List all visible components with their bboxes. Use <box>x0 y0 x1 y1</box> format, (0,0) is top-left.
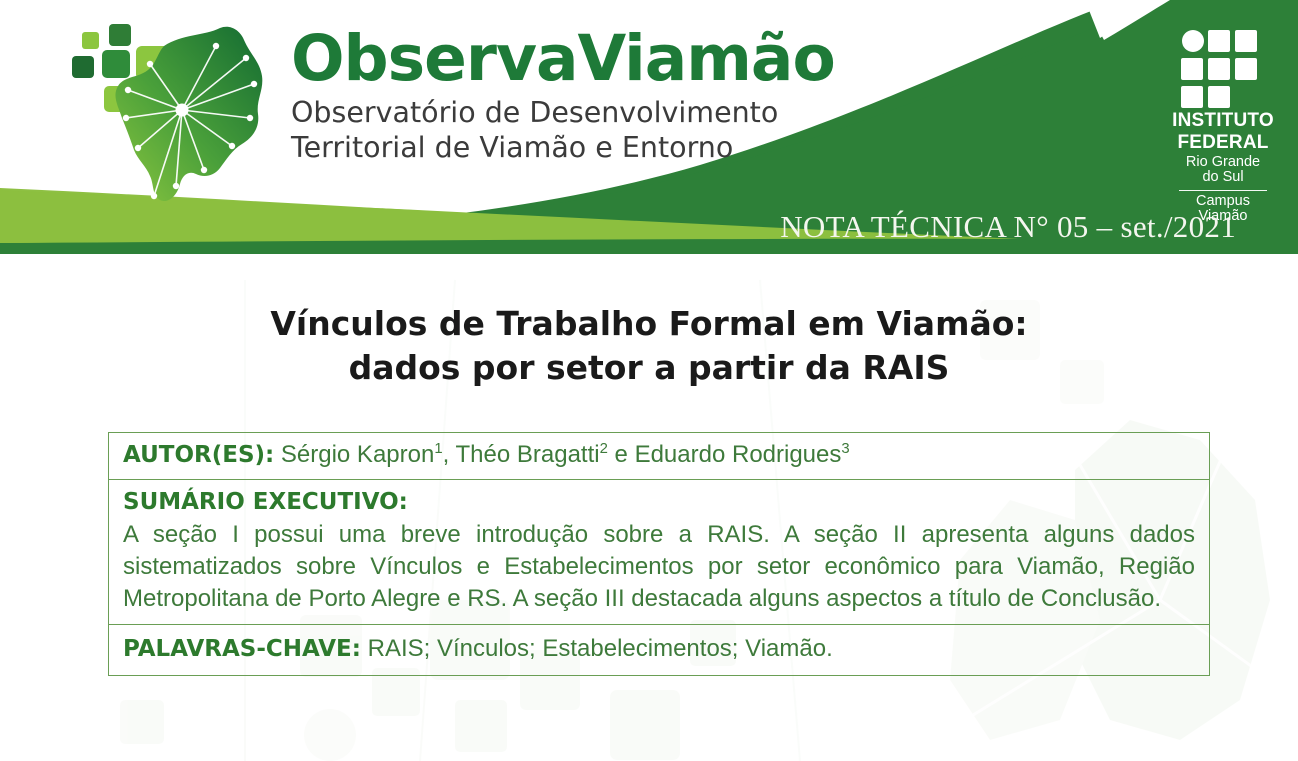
instituto-federal-icon <box>1181 30 1265 108</box>
author-1-name: Sérgio Kapron <box>281 441 434 468</box>
keywords-label: PALAVRAS-CHAVE: <box>123 636 361 662</box>
observaviamao-logo: ObservaViamão Observatório de Desenvolvi… <box>64 18 864 208</box>
author-2-name: Théo Bragatti <box>456 441 600 468</box>
authors-separator-2: e <box>608 441 635 468</box>
keywords-row: PALAVRAS-CHAVE: RAIS; Vínculos; Estabele… <box>109 625 1209 675</box>
author-3-affiliation-marker: 3 <box>841 441 849 457</box>
keywords-text: RAIS; Vínculos; Estabelecimentos; Viamão… <box>368 635 833 662</box>
document-page: ObservaViamão Observatório de Desenvolvi… <box>0 0 1298 761</box>
authors-separator-1: , <box>443 441 456 468</box>
summary-row: SUMÁRIO EXECUTIVO: A seção I possui uma … <box>109 480 1209 625</box>
viamao-map-network-icon <box>64 18 279 208</box>
page-title-line2: dados por setor a partir da RAIS <box>0 346 1298 390</box>
logo-subtitle-line2: Territorial de Viamão e Entorno <box>291 131 835 166</box>
page-title-line1: Vínculos de Trabalho Formal em Viamão: <box>0 302 1298 346</box>
if-state-line1: Rio Grande <box>1163 155 1283 170</box>
authors-row: AUTOR(ES): Sérgio Kapron1, Théo Bragatti… <box>109 433 1209 480</box>
if-campus-line1: Campus <box>1163 194 1283 209</box>
abstract-infobox: AUTOR(ES): Sérgio Kapron1, Théo Bragatti… <box>108 432 1210 676</box>
if-name-line1: INSTITUTO <box>1163 112 1283 130</box>
logo-subtitle-line1: Observatório de Desenvolvimento <box>291 96 835 131</box>
if-divider <box>1179 190 1267 192</box>
if-state-line2: do Sul <box>1163 170 1283 185</box>
author-1-affiliation-marker: 1 <box>434 441 442 457</box>
logo-title: ObservaViamão <box>291 28 835 90</box>
author-3-name: Eduardo Rodrigues <box>635 441 842 468</box>
instituto-federal-logo: INSTITUTO FEDERAL Rio Grande do Sul Camp… <box>1163 30 1283 210</box>
summary-label: SUMÁRIO EXECUTIVO: <box>123 487 1195 518</box>
summary-text: A seção I possui uma breve introdução so… <box>123 519 1195 616</box>
author-2-affiliation-marker: 2 <box>600 441 608 457</box>
page-title: Vínculos de Trabalho Formal em Viamão: d… <box>0 302 1298 390</box>
nota-tecnica-label: NOTA TÉCNICA N° 05 – set./2021 <box>780 209 1236 245</box>
if-name-line2: FEDERAL <box>1163 134 1283 152</box>
authors-label: AUTOR(ES): <box>123 442 274 468</box>
